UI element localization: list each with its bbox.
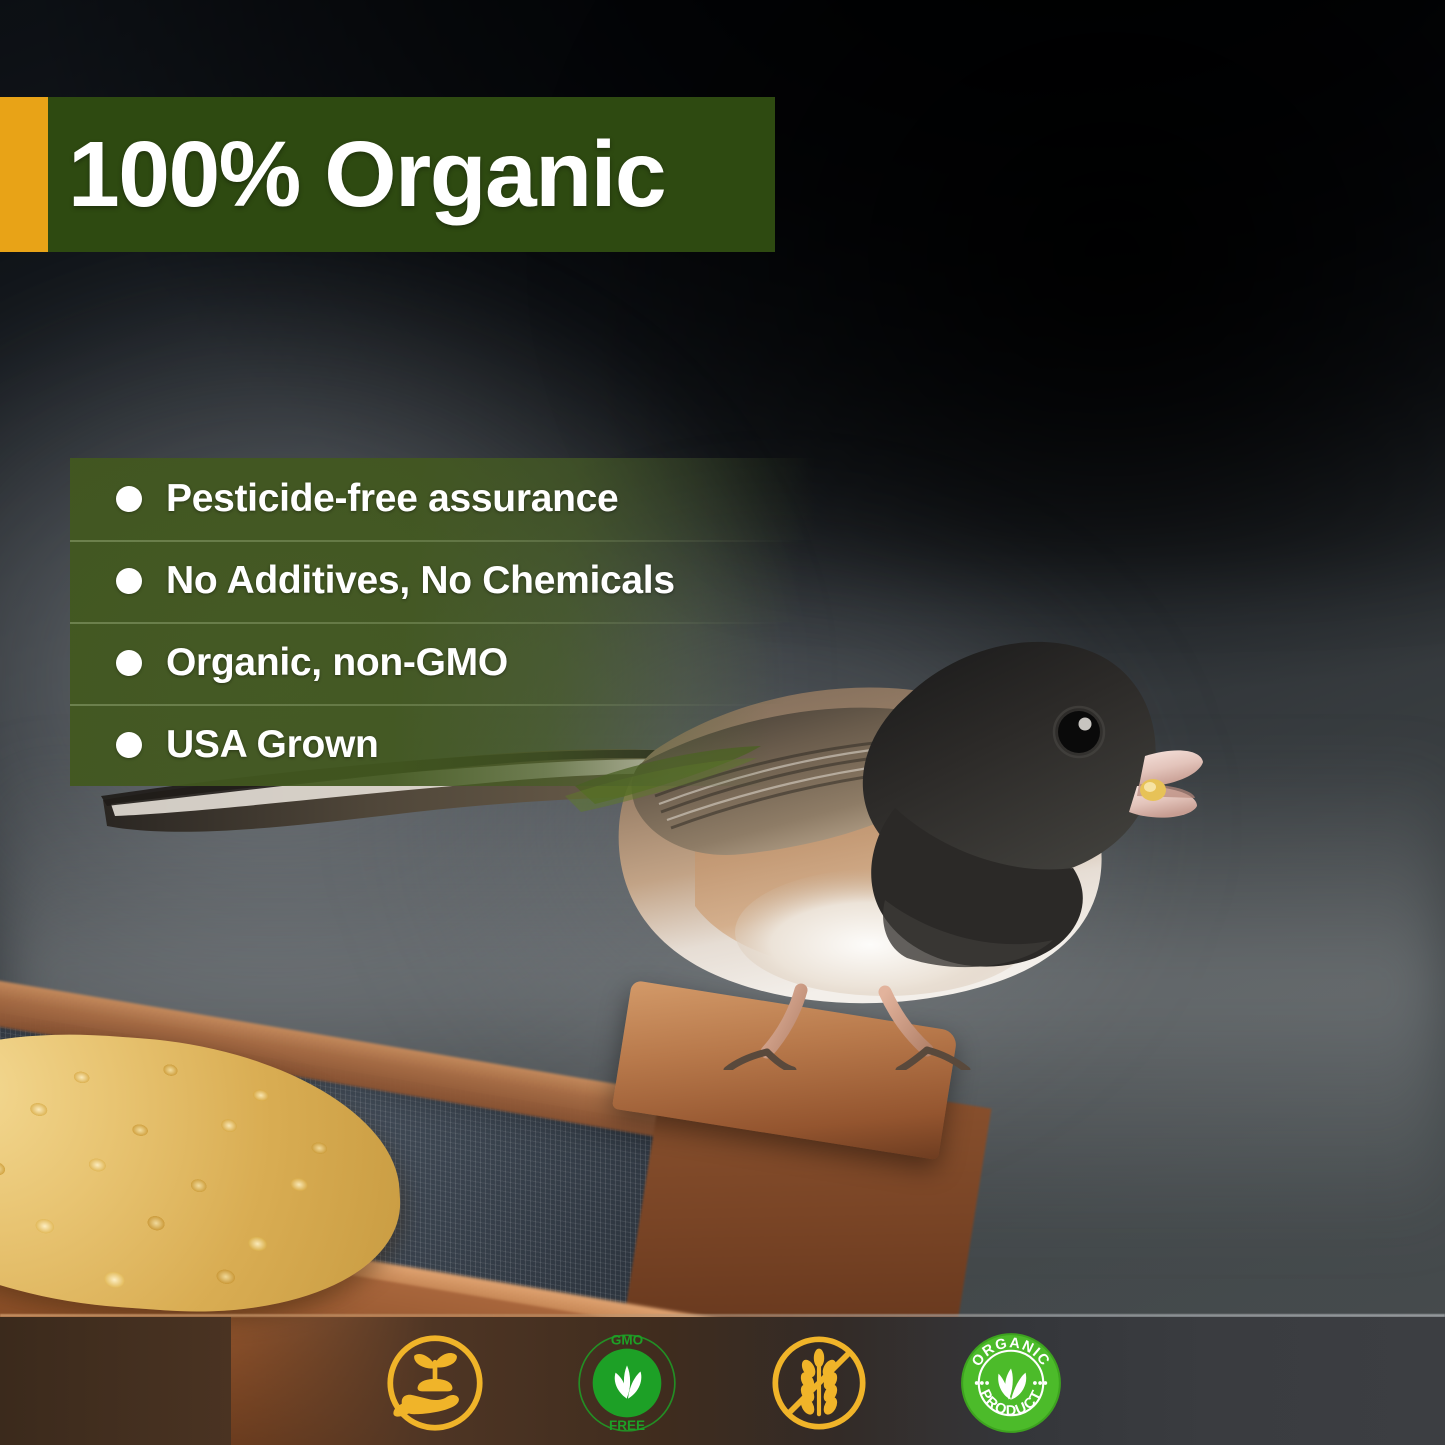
feature-item-pesticide-free: Pesticide-free assurance xyxy=(70,458,815,540)
gluten-free-wheat-icon xyxy=(767,1331,871,1435)
feature-item-no-additives: No Additives, No Chemicals xyxy=(70,540,800,622)
gmo-label: GMO xyxy=(610,1333,642,1348)
feature-label: No Additives, No Chemicals xyxy=(166,559,675,603)
feature-separator xyxy=(70,540,800,542)
bullet-dot-icon xyxy=(116,650,142,676)
header-banner: 100% Organic xyxy=(0,97,775,252)
page-title: 100% Organic xyxy=(68,128,665,221)
header-accent-bar xyxy=(0,97,48,252)
product-infographic: 100% Organic Pesticide-free assurance No… xyxy=(0,0,1445,1445)
gmo-free-icon: GMO FREE xyxy=(575,1331,679,1435)
feature-list: Pesticide-free assurance No Additives, N… xyxy=(70,458,815,786)
header-banner-body: 100% Organic xyxy=(48,97,775,252)
feature-item-non-gmo: Organic, non-GMO xyxy=(70,622,785,704)
bullet-dot-icon xyxy=(116,732,142,758)
free-label: FREE xyxy=(608,1418,644,1433)
hand-holding-sprout-icon xyxy=(383,1331,487,1435)
feature-separator xyxy=(70,622,785,624)
feature-item-usa-grown: USA Grown xyxy=(70,704,770,786)
feature-separator xyxy=(70,704,770,706)
bullet-dot-icon xyxy=(116,486,142,512)
feature-label: Organic, non-GMO xyxy=(166,641,508,685)
bullet-dot-icon xyxy=(116,568,142,594)
organic-product-seal-icon: ORGANIC PRODUCT xyxy=(959,1331,1063,1435)
feature-label: Pesticide-free assurance xyxy=(166,477,618,521)
certification-badge-row: GMO FREE xyxy=(0,1331,1445,1435)
feature-label: USA Grown xyxy=(166,723,379,767)
